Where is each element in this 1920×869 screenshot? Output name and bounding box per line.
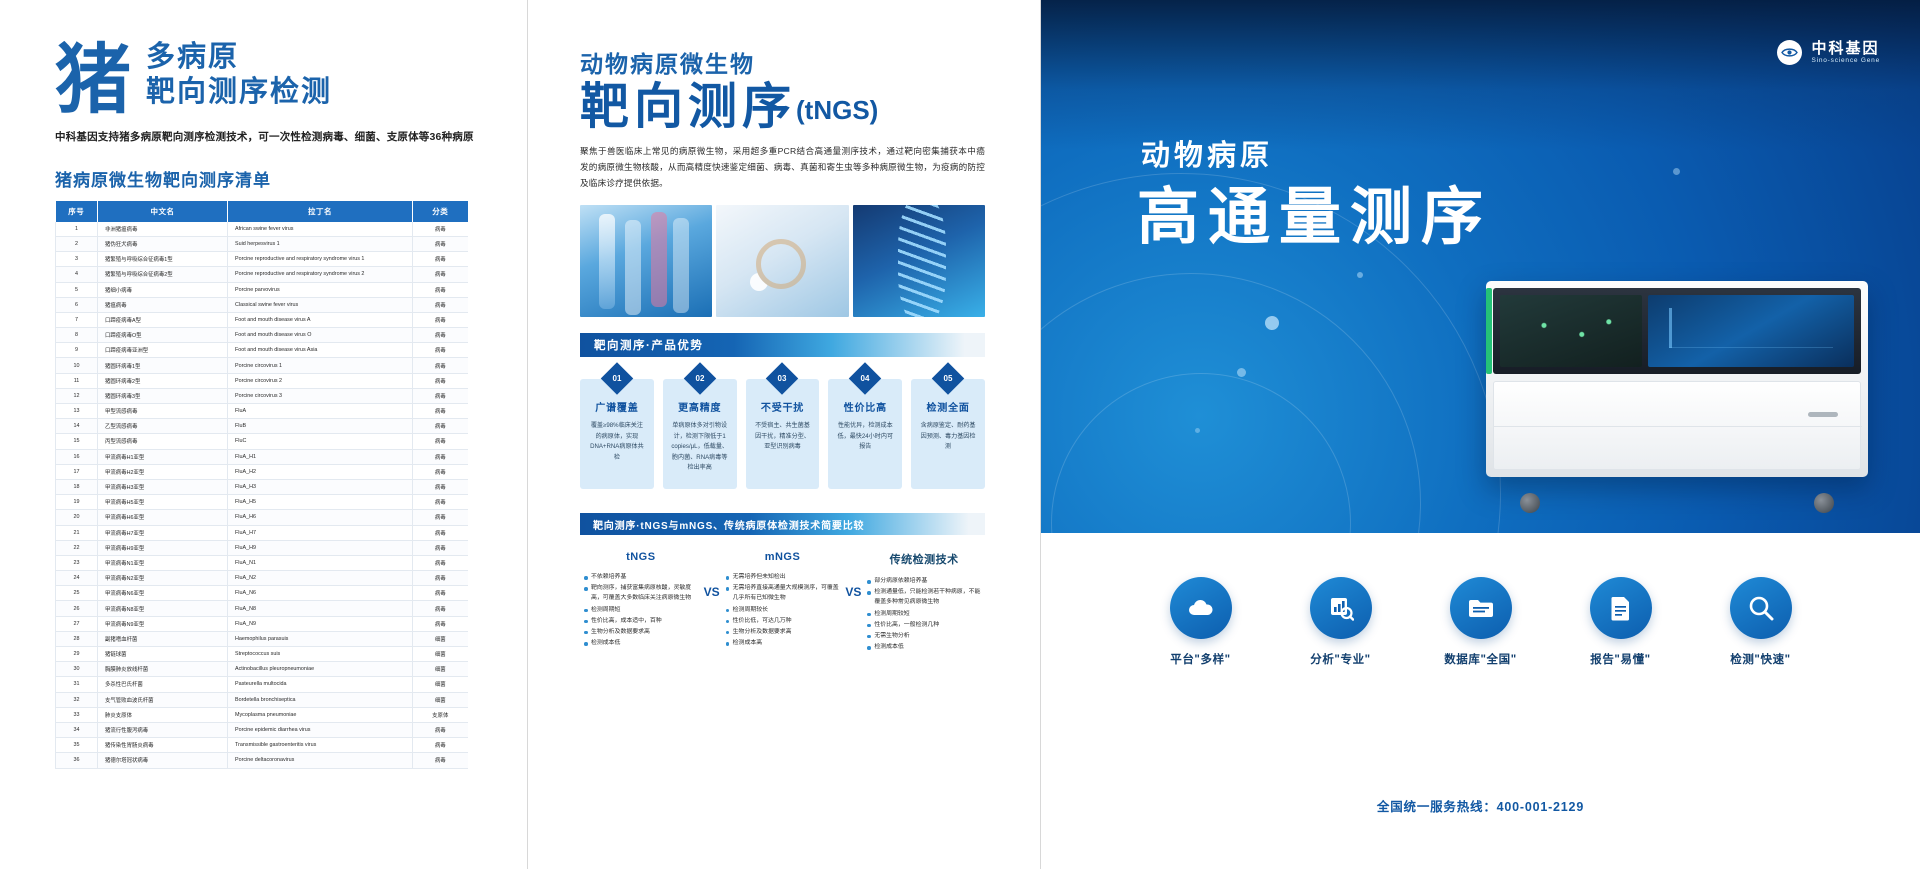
table-cell-chinese: 猪繁殖与呼吸综合征病毒1型 [98,252,228,267]
mid-title-row: 靶向测序 (tNGS) [580,81,992,132]
table-cell-chinese: 支气管败血波氏杆菌 [98,692,228,707]
table-cell-no: 12 [56,388,98,403]
table-cell-type: 病毒 [413,495,468,510]
table-cell-latin: Foot and mouth disease virus Asia [228,343,413,358]
table-row: 33肺炎支原体Mycoplasma pneumoniae支原体 [56,707,468,722]
comparison-column-head: 传统检测技术 [867,551,981,567]
table-cell-no: 3 [56,252,98,267]
hero-title-line2: 高通量测序 [1137,182,1492,251]
table-cell-type: 病毒 [413,388,468,403]
table-cell-type: 病毒 [413,343,468,358]
pathogen-table: 序号 中文名 拉丁名 分类 1非洲猪瘟病毒African swine fever… [55,201,468,769]
table-row: 31多杀性巴氏杆菌Pasteurella multocida细菌 [56,677,468,692]
table-cell-latin: Haemophilus parasuis [228,631,413,646]
table-cell-latin: Porcine circovirus 3 [228,388,413,403]
table-cell-chinese: 猪链球菌 [98,647,228,662]
comparison-column: mNGS无需培养但未知检出无需培养直接高通量大规模测序，可覆盖几乎所有已知微生物… [722,551,844,649]
table-cell-type: 病毒 [413,419,468,434]
table-cell-chinese: 甲流病毒N8亚型 [98,601,228,616]
table-row: 20甲流病毒H6亚型FluA_H6病毒 [56,510,468,525]
table-cell-no: 33 [56,707,98,722]
advantage-title: 广谱覆盖 [586,399,648,414]
left-subtitle: 中科基因支持猪多病原靶向测序检测技术，可一次性检测病毒、细菌、支原体等36种病原 [55,129,479,144]
machine-screen [1648,295,1854,367]
table-cell-no: 1 [56,222,98,237]
table-cell-no: 29 [56,647,98,662]
table-row: 18甲流病毒H3亚型FluA_H3病毒 [56,479,468,494]
comparison-item: 检测周期短 [584,605,698,615]
table-cell-latin: Transmissible gastroenteritis virus [228,738,413,753]
table-cell-type: 细菌 [413,647,468,662]
table-cell-no: 32 [56,692,98,707]
advantage-title: 性价比高 [834,399,896,414]
table-cell-no: 25 [56,586,98,601]
pipette-photo [716,205,848,317]
table-cell-type: 病毒 [413,616,468,631]
table-row: 17甲流病毒H2亚型FluA_H2病毒 [56,464,468,479]
mid-title-suffix: (tNGS) [796,95,878,132]
advantage-number: 02 [688,367,711,390]
table-cell-no: 21 [56,525,98,540]
table-cell-type: 病毒 [413,753,468,768]
table-cell-latin: Foot and mouth disease virus O [228,328,413,343]
comparison-item: 性价比低，可达几万种 [726,616,840,626]
table-cell-type: 病毒 [413,540,468,555]
panel-right: 中科基因 Sino-science Gene 动物病原 高通量测序 [1041,0,1920,869]
table-cell-no: 17 [56,464,98,479]
table-cell-type: 细菌 [413,677,468,692]
table-cell-chinese: 甲流病毒N6亚型 [98,586,228,601]
table-cell-no: 28 [56,631,98,646]
table-row: 27甲流病毒N9亚型FluA_N9病毒 [56,616,468,631]
table-cell-type: 细菌 [413,631,468,646]
pathogen-table-body: 1非洲猪瘟病毒African swine fever virus病毒2猪伪狂犬病… [56,222,468,768]
advantage-body: 不受宿主、共生菌基因干扰，精准分型、亚型识别病毒 [752,421,814,452]
table-row: 11猪圆环病毒2型Porcine circovirus 2病毒 [56,373,468,388]
advantage-number: 05 [937,367,960,390]
table-cell-no: 9 [56,343,98,358]
table-cell-type: 病毒 [413,479,468,494]
table-row: 28副猪嗜血杆菌Haemophilus parasuis细菌 [56,631,468,646]
section-bar-advantages: 靶向测序·产品优势 [580,333,985,357]
section-bar-comparison: 靶向测序·tNGS与mNGS、传统病原体检测技术简要比较 [580,513,985,535]
table-cell-no: 15 [56,434,98,449]
table-cell-chinese: 甲流病毒H9亚型 [98,540,228,555]
table-cell-chinese: 猪圆环病毒3型 [98,388,228,403]
table-cell-chinese: 甲流病毒H3亚型 [98,479,228,494]
comparison-item: 部分病原依赖培养基 [867,576,981,586]
table-cell-chinese: 甲流病毒H1亚型 [98,449,228,464]
table-cell-latin: FluA_H5 [228,495,413,510]
table-cell-no: 34 [56,722,98,737]
machine-wheel-right [1814,493,1834,513]
table-row: 25甲流病毒N6亚型FluA_N6病毒 [56,586,468,601]
table-cell-type: 病毒 [413,373,468,388]
table-row: 24甲流病毒N2亚型FluA_N2病毒 [56,571,468,586]
table-cell-type: 病毒 [413,525,468,540]
table-row: 35猪传染性胃肠炎病毒Transmissible gastroenteritis… [56,738,468,753]
comparison-vs-label: VS [702,551,722,599]
table-row: 21甲流病毒H7亚型FluA_H7病毒 [56,525,468,540]
table-cell-latin: FluA_N1 [228,555,413,570]
table-row: 16甲流病毒H1亚型FluA_H1病毒 [56,449,468,464]
advantage-number-badge: 04 [849,362,882,395]
table-row: 30胸膜肺炎放线杆菌Actinobacillus pleuropneumonia… [56,662,468,677]
advantage-number-badge: 03 [766,362,799,395]
table-cell-chinese: 肺炎支原体 [98,707,228,722]
table-cell-chinese: 甲流病毒H7亚型 [98,525,228,540]
table-cell-type: 细菌 [413,692,468,707]
comparison-item: 无需培养直接高通量大规模测序，可覆盖几乎所有已知微生物 [726,583,840,603]
hero-title-line1: 动物病原 [1141,132,1273,174]
table-row: 19甲流病毒H5亚型FluA_H5病毒 [56,495,468,510]
table-cell-latin: FluA_H3 [228,479,413,494]
table-cell-no: 11 [56,373,98,388]
advantage-number-badge: 01 [601,362,634,395]
col-header-chinese: 中文名 [98,201,228,222]
table-cell-no: 14 [56,419,98,434]
table-cell-type: 支原体 [413,707,468,722]
table-cell-type: 细菌 [413,662,468,677]
table-cell-type: 病毒 [413,404,468,419]
feature-badge[interactable]: 报告"易懂" [1569,577,1673,667]
advantage-card: 04性价比高性能优异，检测成本低，最快24小时内可报告 [828,379,902,489]
table-cell-chinese: 甲流病毒H5亚型 [98,495,228,510]
machine-top-section [1493,288,1861,374]
table-cell-latin: FluB [228,419,413,434]
table-cell-chinese: 口蹄疫病毒O型 [98,328,228,343]
table-cell-latin: FluA_H1 [228,449,413,464]
table-cell-chinese: 胸膜肺炎放线杆菌 [98,662,228,677]
panel-middle: 动物病原微生物 靶向测序 (tNGS) 聚焦于兽医临床上常见的病原微生物，采用超… [528,0,1040,869]
table-cell-type: 病毒 [413,586,468,601]
table-cell-latin: FluA_N9 [228,616,413,631]
table-cell-chinese: 猪传染性胃肠炎病毒 [98,738,228,753]
table-row: 2猪伪狂犬病毒Suid herpesvirus 1病毒 [56,236,468,251]
table-cell-latin: FluA_H9 [228,540,413,555]
table-cell-no: 24 [56,571,98,586]
table-cell-latin: Porcine deltacoronavirus [228,753,413,768]
table-row: 8口蹄疫病毒O型Foot and mouth disease virus O病毒 [56,328,468,343]
col-header-type: 分类 [413,201,468,222]
table-cell-latin: FluA_H7 [228,525,413,540]
section-bar-advantages-label: 靶向测序·产品优势 [580,337,703,353]
table-cell-type: 病毒 [413,601,468,616]
comparison-vs-label: VS [843,551,863,599]
machine-drawer-section [1493,381,1861,470]
feature-badges-section: 平台"多样"分析"专业"数据库"全国"报告"易懂"检测"快速" 全国统一服务热线… [1041,533,1920,869]
machine-drawer-handle [1808,412,1838,417]
table-row: 5猪细小病毒Porcine parvovirus病毒 [56,282,468,297]
panel-left: 猪 多病原 靶向测序检测 中科基因支持猪多病原靶向测序检测技术，可一次性检测病毒… [0,0,527,869]
table-row: 9口蹄疫病毒亚洲型Foot and mouth disease virus As… [56,343,468,358]
table-row: 26甲流病毒N8亚型FluA_N8病毒 [56,601,468,616]
table-cell-latin: African swine fever virus [228,222,413,237]
mid-title-big: 靶向测序 [580,81,796,132]
comparison-item: 靶向测序，捕获富集病原核酸，灵敏度高，可覆盖大多数临床关注病原微生物 [584,583,698,603]
table-cell-type: 病毒 [413,222,468,237]
table-cell-latin: Porcine circovirus 2 [228,373,413,388]
table-cell-latin: Porcine epidemic diarrhea virus [228,722,413,737]
table-cell-latin: Classical swine fever virus [228,297,413,312]
table-cell-chinese: 副猪嗜血杆菌 [98,631,228,646]
table-cell-type: 病毒 [413,312,468,327]
table-row: 23甲流病毒N1亚型FluA_N1病毒 [56,555,468,570]
feature-badge-label: 分析"专业" [1289,651,1393,667]
brand-logo-text: 中科基因 Sino-science Gene [1811,41,1880,65]
comparison-item: 无需生物分析 [867,631,981,641]
table-cell-chinese: 甲型流感病毒 [98,404,228,419]
advantage-card: 03不受干扰不受宿主、共生菌基因干扰，精准分型、亚型识别病毒 [746,379,820,489]
comparison-item: 检测成本高 [726,638,840,648]
table-cell-latin: Bordetella bronchiseptica [228,692,413,707]
advantage-title: 更高精度 [669,399,731,414]
table-cell-latin: Foot and mouth disease virus A [228,312,413,327]
table-cell-latin: FluA_N6 [228,586,413,601]
table-cell-type: 病毒 [413,328,468,343]
advantage-title: 检测全面 [917,399,979,414]
cloud-icon [1170,577,1232,639]
table-cell-no: 7 [56,312,98,327]
photo-strip [580,205,985,317]
comparison-item: 性价比高，成本适中，百种 [584,616,698,626]
comparison-wrap: tNGS不依赖培养基靶向测序，捕获富集病原核酸，灵敏度高，可覆盖大多数临床关注病… [580,551,985,653]
table-cell-chinese: 非洲猪瘟病毒 [98,222,228,237]
brand-name-cn: 中科基因 [1811,41,1880,57]
table-row: 15丙型流感病毒FluC病毒 [56,434,468,449]
table-cell-latin: FluC [228,434,413,449]
table-cell-latin: Porcine reproductive and respiratory syn… [228,267,413,282]
sequencer-machine [1486,281,1868,513]
table-row: 6猪瘟病毒Classical swine fever virus病毒 [56,297,468,312]
comparison-item: 不依赖培养基 [584,572,698,582]
table-cell-no: 13 [56,404,98,419]
table-cell-latin: Streptococcus suis [228,647,413,662]
comparison-column: 传统检测技术部分病原依赖培养基检测通量低，只能检测若干种病原，不能覆盖多种常见病… [863,551,985,653]
advantage-card: 05检测全面含病原鉴定、耐药基因预测、毒力基因检测 [911,379,985,489]
table-row: 12猪圆环病毒3型Porcine circovirus 3病毒 [56,388,468,403]
table-cell-type: 病毒 [413,555,468,570]
advantage-number: 01 [605,367,628,390]
advantage-body: 含病原鉴定、耐药基因预测、毒力基因检测 [917,421,979,452]
table-cell-chinese: 猪繁殖与呼吸综合征病毒2型 [98,267,228,282]
table-cell-chinese: 猪瘟病毒 [98,297,228,312]
feature-badge[interactable]: 数据库"全国" [1429,577,1533,667]
table-cell-no: 8 [56,328,98,343]
advantage-body: 单病原体多对引物设计，检测下限低于1 copies/μL，低载量、胞内菌、RNA… [669,421,731,473]
table-cell-type: 病毒 [413,722,468,737]
table-cell-latin: Actinobacillus pleuropneumoniae [228,662,413,677]
table-cell-latin: FluA_H2 [228,464,413,479]
table-cell-chinese: 多杀性巴氏杆菌 [98,677,228,692]
hero-character: 猪 [55,45,132,115]
table-cell-chinese: 猪细小病毒 [98,282,228,297]
comparison-column-head: tNGS [584,551,698,563]
table-row: 14乙型流感病毒FluB病毒 [56,419,468,434]
feature-badge-label: 数据库"全国" [1429,651,1533,667]
machine-body [1486,281,1868,477]
table-cell-latin: Pasteurella multocida [228,677,413,692]
table-row: 36猪德尔塔冠状病毒Porcine deltacoronavirus病毒 [56,753,468,768]
feature-badge-label: 报告"易懂" [1569,651,1673,667]
table-cell-no: 19 [56,495,98,510]
machine-indicator-panel [1500,295,1642,367]
brand-name-en: Sino-science Gene [1811,57,1880,64]
comparison-column: tNGS不依赖培养基靶向测序，捕获富集病原核酸，灵敏度高，可覆盖大多数临床关注病… [580,551,702,649]
machine-drawer-split [1494,426,1862,427]
advantage-number-badge: 05 [932,362,965,395]
comparison-item: 生物分析及数据要求高 [584,627,698,637]
table-cell-type: 病毒 [413,571,468,586]
hero-banner: 中科基因 Sino-science Gene 动物病原 高通量测序 [1041,0,1920,533]
table-row: 13甲型流感病毒FluA病毒 [56,404,468,419]
advantage-number: 03 [771,367,794,390]
table-cell-chinese: 猪流行性腹泻病毒 [98,722,228,737]
table-cell-chinese: 甲流病毒N1亚型 [98,555,228,570]
table-cell-chinese: 猪德尔塔冠状病毒 [98,753,228,768]
table-cell-latin: FluA_N8 [228,601,413,616]
comparison-item: 性价比高，一般检测几种 [867,620,981,630]
table-cell-latin: Mycoplasma pneumoniae [228,707,413,722]
advantage-card: 02更高精度单病原体多对引物设计，检测下限低于1 copies/μL，低载量、胞… [663,379,737,489]
advantage-card: 01广谱覆盖覆盖≥98%临床关注的病原体，实现DNA+RNA病原体共检 [580,379,654,489]
table-cell-latin: Porcine circovirus 1 [228,358,413,373]
table-cell-latin: FluA_N2 [228,571,413,586]
section-bar-comparison-label: 靶向测序·tNGS与mNGS、传统病原体检测技术简要比较 [580,517,864,532]
table-cell-latin: FluA_H6 [228,510,413,525]
table-cell-no: 5 [56,282,98,297]
table-cell-latin: Suid herpesvirus 1 [228,236,413,251]
table-row: 34猪流行性腹泻病毒Porcine epidemic diarrhea viru… [56,722,468,737]
dna-helix-photo [853,205,985,317]
advantage-body: 覆盖≥98%临床关注的病原体，实现DNA+RNA病原体共检 [586,421,648,463]
brochure-page: 猪 多病原 靶向测序检测 中科基因支持猪多病原靶向测序检测技术，可一次性检测病毒… [0,0,1920,869]
table-cell-type: 病毒 [413,434,468,449]
comparison-item: 检测成本低 [584,638,698,648]
table-cell-chinese: 丙型流感病毒 [98,434,228,449]
table-cell-chinese: 甲流病毒N2亚型 [98,571,228,586]
table-header-row: 序号 中文名 拉丁名 分类 [56,201,468,222]
table-cell-chinese: 甲流病毒H6亚型 [98,510,228,525]
col-header-latin: 拉丁名 [228,201,413,222]
report-doc-icon [1590,577,1652,639]
comparison-item: 检测周期较短 [867,609,981,619]
table-cell-chinese: 口蹄疫病毒A型 [98,312,228,327]
feature-badge-label: 检测"快速" [1709,651,1813,667]
table-cell-no: 35 [56,738,98,753]
test-tubes-photo [580,205,712,317]
comparison-item: 无需培养但未知检出 [726,572,840,582]
left-title-line2: 靶向测序检测 [146,75,332,110]
machine-wheel-left [1520,493,1540,513]
table-cell-no: 23 [56,555,98,570]
table-cell-latin: FluA [228,404,413,419]
table-cell-chinese: 口蹄疫病毒亚洲型 [98,343,228,358]
table-cell-no: 2 [56,236,98,251]
table-cell-no: 27 [56,616,98,631]
table-cell-latin: Porcine parvovirus [228,282,413,297]
brand-logo[interactable]: 中科基因 Sino-science Gene [1777,40,1880,65]
table-cell-type: 病毒 [413,510,468,525]
table-cell-no: 10 [56,358,98,373]
hotline-text: 全国统一服务热线：400-001-2129 [1041,796,1920,815]
table-cell-type: 病毒 [413,358,468,373]
col-header-no: 序号 [56,201,98,222]
table-row: 32支气管败血波氏杆菌Bordetella bronchiseptica细菌 [56,692,468,707]
table-cell-chinese: 猪圆环病毒1型 [98,358,228,373]
table-cell-type: 病毒 [413,236,468,251]
table-cell-type: 病毒 [413,282,468,297]
table-cell-latin: Porcine reproductive and respiratory syn… [228,252,413,267]
table-row: 10猪圆环病毒1型Porcine circovirus 1病毒 [56,358,468,373]
table-row: 29猪链球菌Streptococcus suis细菌 [56,647,468,662]
table-cell-no: 22 [56,540,98,555]
eye-logo-icon [1777,40,1802,65]
table-cell-chinese: 甲流病毒N9亚型 [98,616,228,631]
table-cell-chinese: 甲流病毒H2亚型 [98,464,228,479]
advantage-title: 不受干扰 [752,399,814,414]
table-cell-type: 病毒 [413,252,468,267]
comparison-item: 检测周期较长 [726,605,840,615]
table-cell-no: 30 [56,662,98,677]
table-cell-no: 36 [56,753,98,768]
comparison-item: 检测通量低，只能检测若干种病原，不能覆盖多种常见病原微生物 [867,587,981,607]
feature-badge[interactable]: 检测"快速" [1709,577,1813,667]
advantage-body: 性能优异，检测成本低，最快24小时内可报告 [834,421,896,452]
mid-title-small: 动物病原微生物 [580,45,992,79]
table-row: 7口蹄疫病毒A型Foot and mouth disease virus A病毒 [56,312,468,327]
comparison-item: 生物分析及数据要求高 [726,627,840,637]
table-cell-chinese: 猪圆环病毒2型 [98,373,228,388]
table-cell-no: 18 [56,479,98,494]
table-cell-type: 病毒 [413,449,468,464]
advantage-number: 04 [854,367,877,390]
table-row: 1非洲猪瘟病毒African swine fever virus病毒 [56,222,468,237]
advantage-number-badge: 02 [683,362,716,395]
feature-badge[interactable]: 平台"多样" [1149,577,1253,667]
comparison-item: 检测成本低 [867,642,981,652]
left-header: 猪 多病原 靶向测序检测 [55,40,479,115]
comparison-column-head: mNGS [726,551,840,563]
mid-description: 聚焦于兽医临床上常见的病原微生物，采用超多重PCR结合高通量测序技术，通过靶向密… [580,144,985,192]
table-row: 22甲流病毒H9亚型FluA_H9病毒 [56,540,468,555]
feature-badge-label: 平台"多样" [1149,651,1253,667]
feature-badges-row: 平台"多样"分析"专业"数据库"全国"报告"易懂"检测"快速" [1041,577,1920,667]
table-cell-no: 20 [56,510,98,525]
table-cell-no: 16 [56,449,98,464]
pathogen-list-title: 猪病原微生物靶向测序清单 [55,166,479,191]
advantages-row: 01广谱覆盖覆盖≥98%临床关注的病原体，实现DNA+RNA病原体共检02更高精… [580,379,985,489]
table-cell-no: 31 [56,677,98,692]
table-cell-chinese: 猪伪狂犬病毒 [98,236,228,251]
table-cell-no: 4 [56,267,98,282]
database-folder-icon [1450,577,1512,639]
table-cell-no: 26 [56,601,98,616]
table-cell-type: 病毒 [413,738,468,753]
feature-badge[interactable]: 分析"专业" [1289,577,1393,667]
table-cell-type: 病毒 [413,464,468,479]
table-row: 3猪繁殖与呼吸综合征病毒1型Porcine reproductive and r… [56,252,468,267]
table-cell-no: 6 [56,297,98,312]
chart-search-icon [1310,577,1372,639]
left-title-stack: 多病原 靶向测序检测 [146,40,332,115]
left-title-line1: 多病原 [146,40,332,75]
table-row: 4猪繁殖与呼吸综合征病毒2型Porcine reproductive and r… [56,267,468,282]
machine-accent-strip [1486,288,1492,374]
table-cell-chinese: 乙型流感病毒 [98,419,228,434]
table-cell-type: 病毒 [413,297,468,312]
magnifier-icon [1730,577,1792,639]
